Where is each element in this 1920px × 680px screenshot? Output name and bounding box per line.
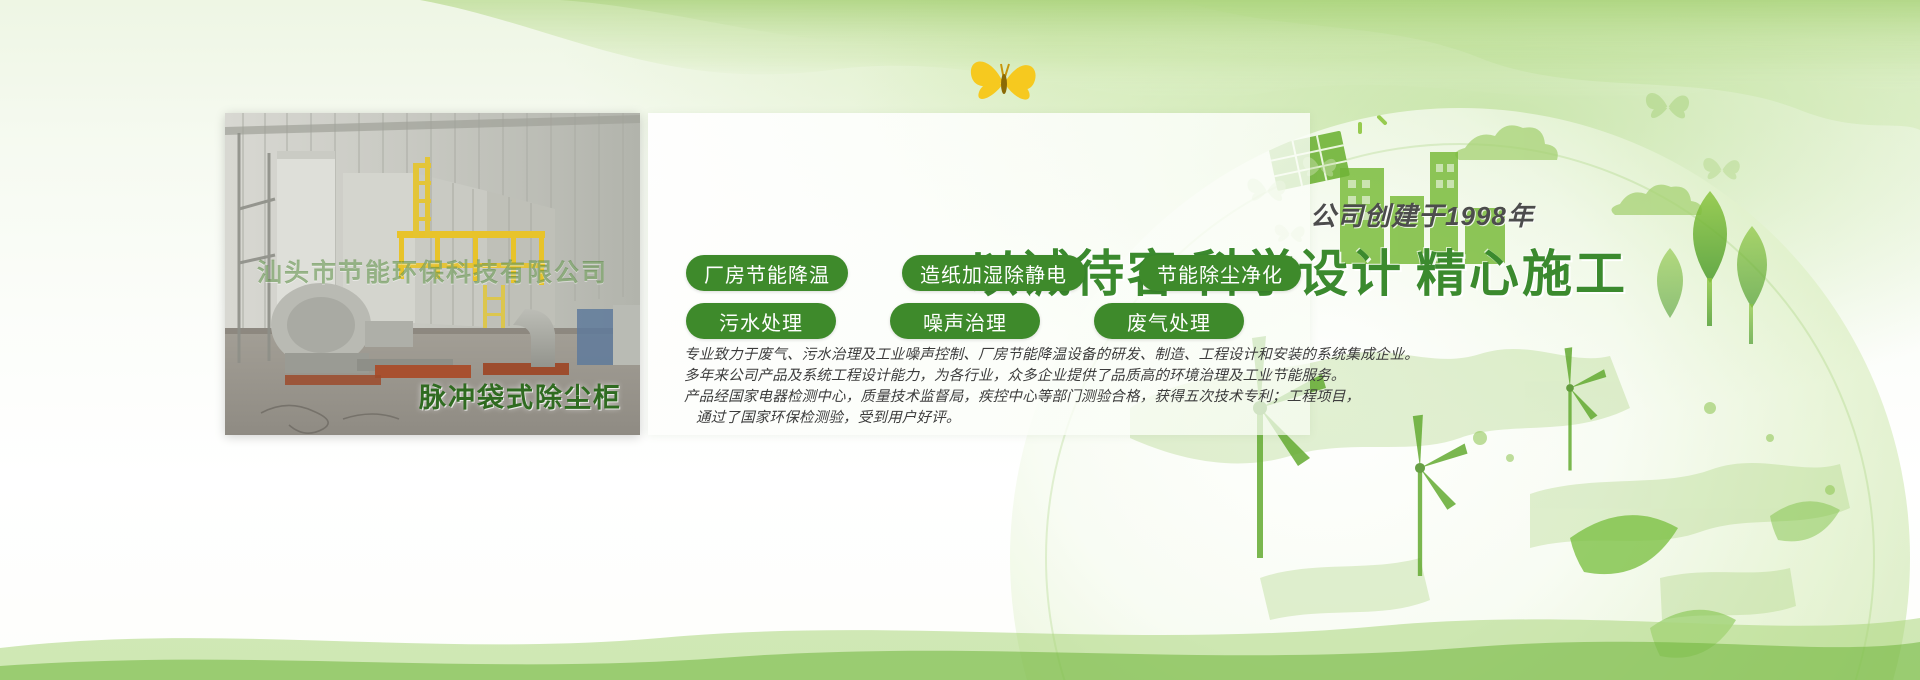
service-tag[interactable]: 废气处理 xyxy=(1094,303,1244,339)
description-line: 多年来公司产品及系统工程设计能力，为各行业，众多企业提供了品质高的环境治理及工业… xyxy=(684,366,1324,387)
description-line: 产品经国家电器检测中心，质量技术监督局，疾控中心等部门测验合格，获得五次技术专利… xyxy=(684,387,1324,408)
service-tag[interactable]: 节能除尘净化 xyxy=(1139,255,1301,291)
slogan-part-3: 精心施工 xyxy=(1410,246,1634,302)
service-tag[interactable]: 厂房节能降温 xyxy=(686,255,848,291)
description-line: 通过了国家环保检测验，受到用户好评。 xyxy=(684,408,1324,429)
service-tag[interactable]: 噪声治理 xyxy=(890,303,1040,339)
service-tag[interactable]: 造纸加湿除静电 xyxy=(902,255,1085,291)
description-line: 专业致力于废气、污水治理及工业噪声控制、厂房节能降温设备的研发、制造、工程设计和… xyxy=(684,345,1324,366)
service-tag[interactable]: 污水处理 xyxy=(686,303,836,339)
service-tag-list: 厂房节能降温 造纸加湿除静电 节能除尘净化 污水处理 噪声治理 废气处理 xyxy=(686,255,1306,339)
headline-block: 公司创建于1998年 以诚待客科学设计精心施工 厂房节能降温 造纸加湿除静电 节… xyxy=(0,0,1920,680)
banner-stage: 汕头市节能环保科技有限公司 脉冲袋式除尘柜 公司创建于1998年 以诚待客科学设… xyxy=(0,0,1920,680)
company-description: 专业致力于废气、污水治理及工业噪声控制、厂房节能降温设备的研发、制造、工程设计和… xyxy=(684,345,1324,429)
established-label: 公司创建于1998年 xyxy=(1310,196,1534,233)
